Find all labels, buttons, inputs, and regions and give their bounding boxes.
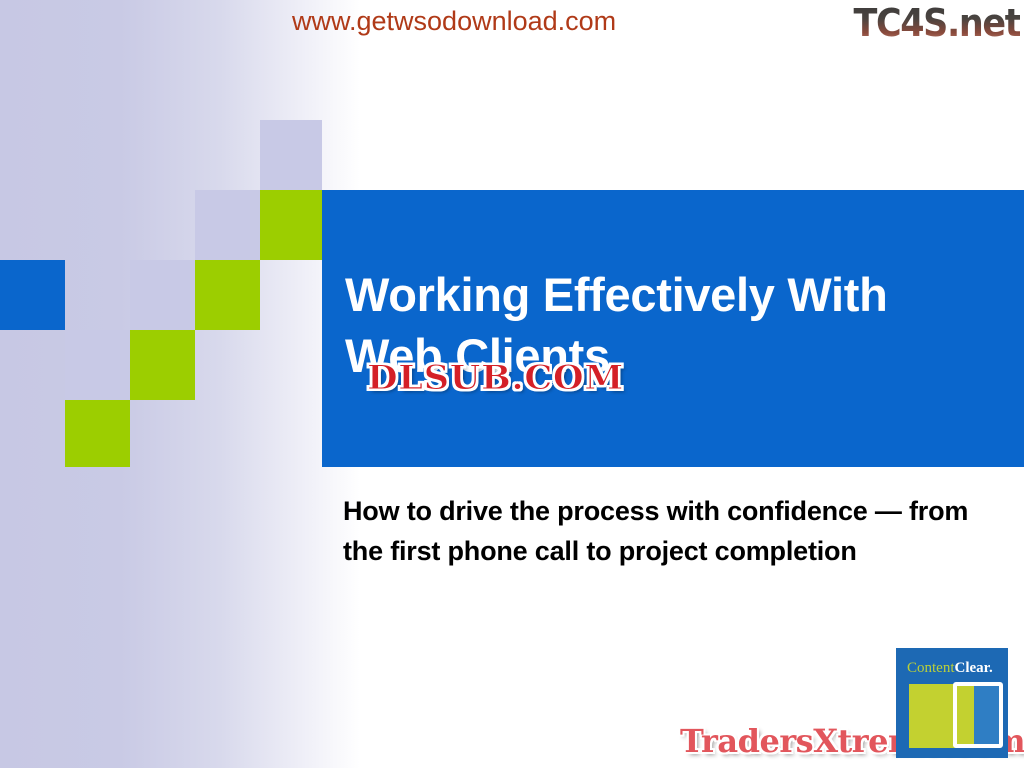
contentclear-page-accent <box>957 686 974 744</box>
watermark-tc4s-logo: TC4S.net <box>853 1 1020 45</box>
contentclear-word-clear: Clear. <box>955 660 993 676</box>
presentation-slide: Working Effectively With Web Clients How… <box>0 0 1024 768</box>
contentclear-page-shape <box>953 682 1003 748</box>
tile-green-r3c2 <box>130 330 195 400</box>
contentclear-word-content: Content <box>907 660 955 676</box>
tile-lavender-r0c4 <box>260 120 322 190</box>
tile-lavender-r2c2 <box>130 260 195 330</box>
tile-lavender-r3c1 <box>65 330 130 400</box>
tile-green-r2c3 <box>195 260 260 330</box>
contentclear-logo: ContentClear. <box>896 648 1008 758</box>
watermark-top-url: www.getwsodownload.com <box>292 6 616 37</box>
tile-green-r4c1 <box>65 400 130 467</box>
tile-blue-r2c0 <box>0 260 65 330</box>
slide-subtitle: How to drive the process with confidence… <box>343 492 983 571</box>
contentclear-wordmark: ContentClear. <box>907 660 993 677</box>
watermark-dlsub: DLSUB.COM <box>367 358 624 398</box>
tile-green-r1c4 <box>260 190 322 260</box>
tile-lavender-r1c3 <box>195 190 260 260</box>
